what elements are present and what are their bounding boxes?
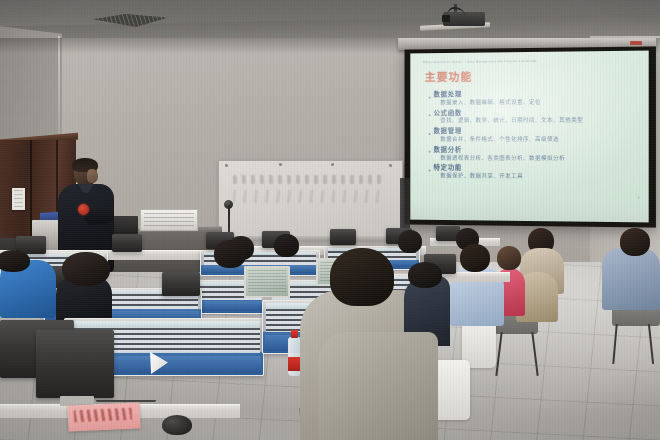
projector-lens-icon [442,15,450,22]
monitor [36,330,114,398]
slide-bullet-3: 数据管理 数据合并、条件格式、个性化排序、高级筛选 [429,128,640,143]
handout-text-lines [144,213,194,227]
notice-text-lines [14,190,23,208]
bullet-subtext: 数据透视表分析、各类图表分析、数据模拟分析 [440,155,639,162]
brand-label-icon [630,41,642,45]
slide-bullet-5: 特定功能 数据保护、数据共享、开发工具 [429,165,640,181]
computer-mouse [162,415,192,435]
monitor [112,234,142,252]
bullet-dot-icon [429,114,431,116]
attendee-head [62,252,110,286]
slide-bullet-2: 公式函数 查找、逻辑、数学、统计、日期时间、文本、其他类型 [429,109,640,125]
bullet-subtext: 查找、逻辑、数学、统计、日期时间、文本、其他类型 [440,118,639,125]
lectern-handout [140,209,198,231]
attendee-head [460,244,490,272]
attendee-head [408,262,442,288]
bottle-cap [291,330,298,338]
screen-lower-shade [410,198,648,222]
projection-screen: Office Automation Series — Data Manageme… [405,46,656,227]
slide-header-text: Office Automation Series — Data Manageme… [423,58,640,64]
whiteboard-screw [389,164,392,167]
bullet-heading: 数据处理 [434,91,462,99]
monitor-content [248,270,286,294]
bullet-heading: 数据管理 [434,128,462,136]
bullet-dot-icon [429,151,431,153]
classroom-photo: Office Automation Series — Data Manageme… [0,0,660,440]
instructor-face [87,169,98,183]
attendee-arm [318,332,438,440]
posted-notice-paper [12,188,25,210]
bullet-heading: 公式函数 [434,110,462,118]
slide-bullet-4: 数据分析 数据透视表分析、各类图表分析、数据模拟分析 [429,147,640,163]
projected-slide: Office Automation Series — Data Manageme… [410,51,648,223]
slide-bullet-1: 数据处理 数据录入、数据编辑、格式设置、定位 [429,90,640,106]
monitor [162,272,200,296]
screen-surface: Office Automation Series — Data Manageme… [410,51,648,223]
attendee-head [497,246,521,270]
bullet-dot-icon [429,96,431,98]
whiteboard-screw [331,163,334,166]
bullet-dot-icon [429,169,431,171]
attendee-head [274,234,299,257]
attendee-head [214,240,246,268]
monitor [330,229,356,245]
attendee-head [398,230,422,253]
whiteboard-screw [225,164,228,167]
bullet-subtext: 数据合并、条件格式、个性化排序、高级筛选 [440,137,639,143]
bullet-subtext: 数据保护、数据共享、开发工具 [440,174,639,181]
attendee-head [0,250,30,272]
whiteboard-erased-writing [233,173,384,203]
whiteboard [218,160,403,238]
attendee-head [330,248,394,306]
whiteboard-screw [279,163,282,166]
attendee-head [620,228,650,256]
wall-dark-frame [400,178,410,230]
shirt-logo-icon [78,204,89,215]
attendee-torso [602,248,660,310]
bullet-dot-icon [429,133,431,135]
monitor-display [244,266,290,298]
slide-title: 主要功能 [425,67,640,85]
bullet-heading: 数据分析 [434,147,462,155]
bullet-subtext: 数据录入、数据编辑、格式设置、定位 [440,99,639,106]
bullet-heading: 特定功能 [434,165,462,173]
handwritten-text [74,408,132,423]
